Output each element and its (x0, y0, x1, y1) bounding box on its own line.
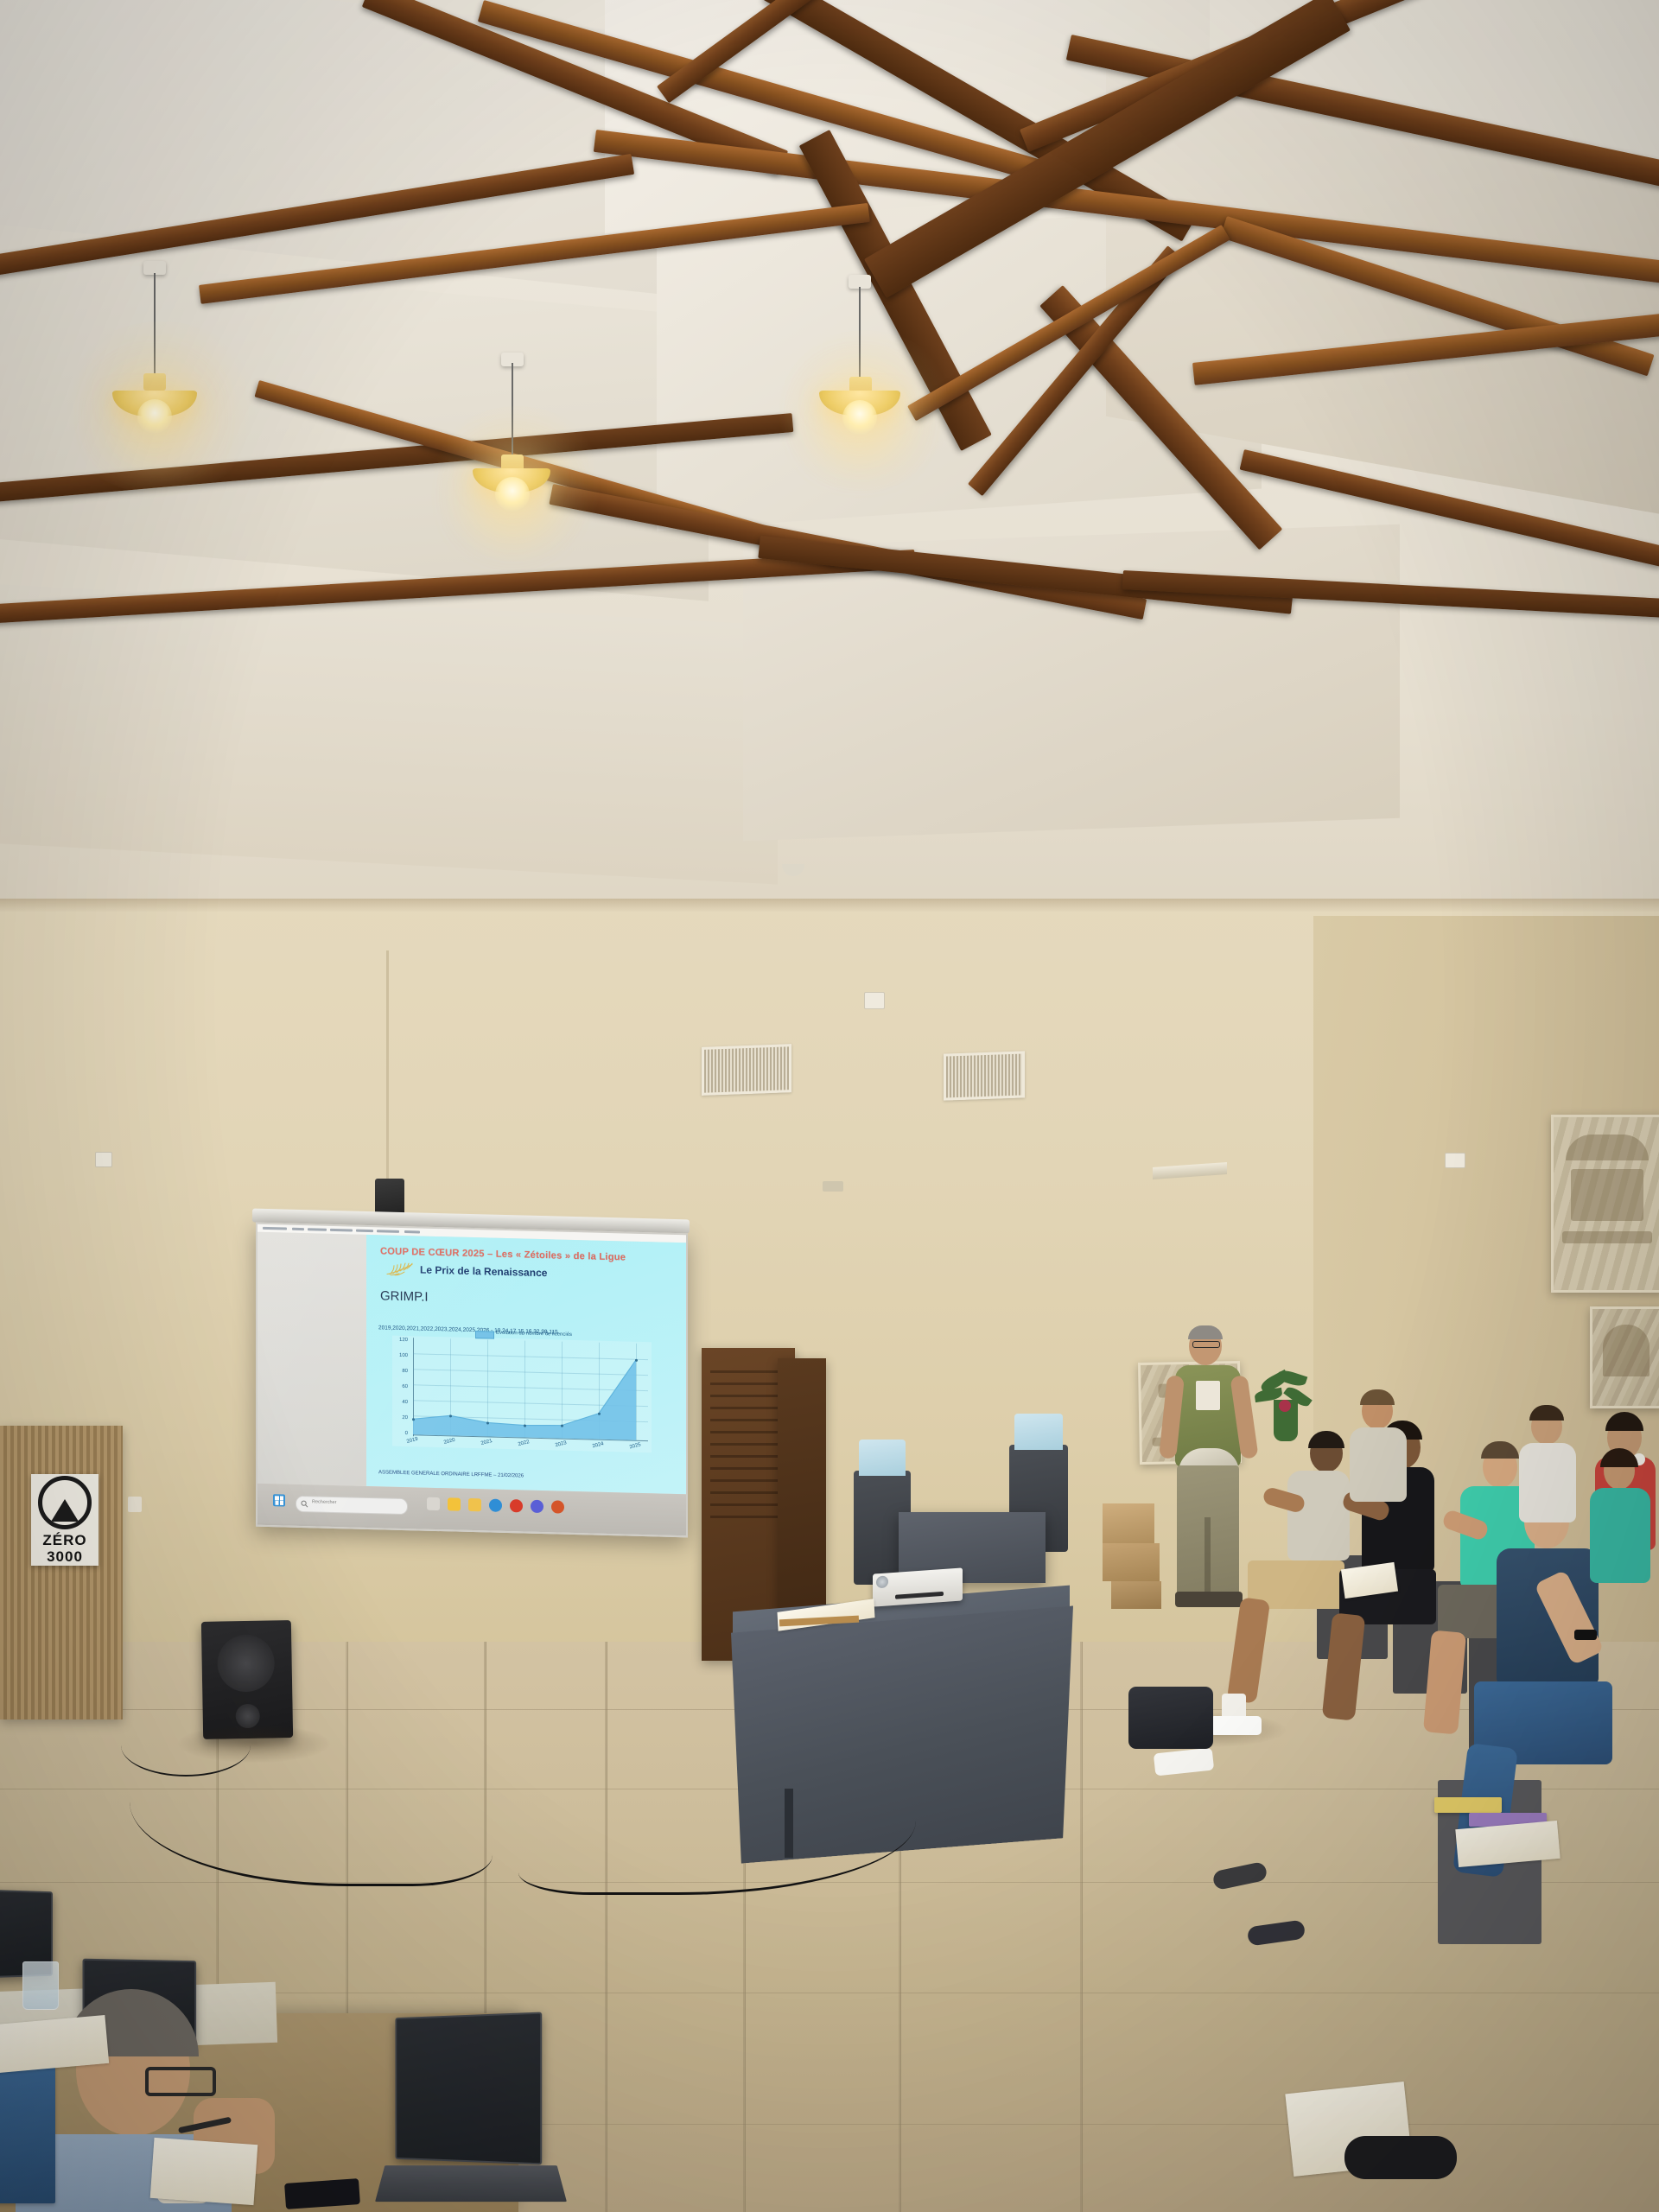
thermostat[interactable] (128, 1497, 142, 1512)
plant-flower (1279, 1400, 1291, 1412)
lamp-cord-center (512, 363, 513, 458)
poster-line-2: 3000 (47, 1549, 83, 1564)
shoe-dark (1344, 2136, 1457, 2179)
smartphone-on-desk[interactable] (284, 2178, 360, 2209)
wall-plate-right (1445, 1153, 1465, 1168)
presenter-shirt-print (1196, 1381, 1220, 1410)
lamp-bulb-left (137, 399, 172, 434)
backpack-floor (1128, 1687, 1213, 1749)
ceiling (0, 0, 1659, 942)
wall-socket-small (95, 1152, 112, 1167)
audience-person-6 (1510, 1408, 1588, 1624)
laptop-foreground[interactable] (395, 2012, 542, 2165)
lamp-bulb-right (842, 400, 877, 435)
wall-cable-conduit (386, 950, 389, 1210)
lamp-bulb-center (495, 477, 530, 512)
presenter-glasses (1192, 1341, 1220, 1348)
audience-person-8 (1343, 1393, 1417, 1566)
wall-vent-left (702, 1044, 791, 1096)
wall-sign-small (823, 1181, 843, 1192)
audience-person-7 (1581, 1452, 1659, 1728)
cardboard-box-1 (1103, 1503, 1154, 1543)
wall-socket-upper (864, 992, 885, 1009)
lamp-cord-left (154, 273, 156, 377)
framed-artwork-right-lower (1590, 1306, 1659, 1408)
mountain-circle-icon (38, 1476, 92, 1529)
framed-artwork-right (1551, 1115, 1659, 1293)
foreground-glasses (145, 2067, 216, 2096)
notebook-yellow (1434, 1797, 1502, 1813)
projection-haze (256, 1223, 684, 1535)
drinking-glass (22, 1961, 59, 2010)
floor-cable-speaker (121, 1714, 251, 1777)
lamp-socket-left (143, 373, 166, 391)
wall-vent-right (944, 1051, 1025, 1100)
binder-blue (0, 2056, 55, 2203)
laptop-foreground-keyboard[interactable] (375, 2165, 567, 2202)
cardboard-box-2 (1103, 1543, 1160, 1581)
lamp-cord-right (859, 287, 861, 380)
wicker-panel-left (0, 1426, 123, 1719)
room-photograph: COUP DE CŒUR 2025 – Les « Zétoiles » de … (0, 0, 1659, 2212)
projector (873, 1567, 963, 1606)
zero-3000-poster: ZÉRO 3000 (31, 1474, 99, 1566)
printed-sheet-2 (150, 2138, 258, 2205)
poster-line-1: ZÉRO (42, 1533, 86, 1548)
presenter-hair (1188, 1325, 1223, 1339)
